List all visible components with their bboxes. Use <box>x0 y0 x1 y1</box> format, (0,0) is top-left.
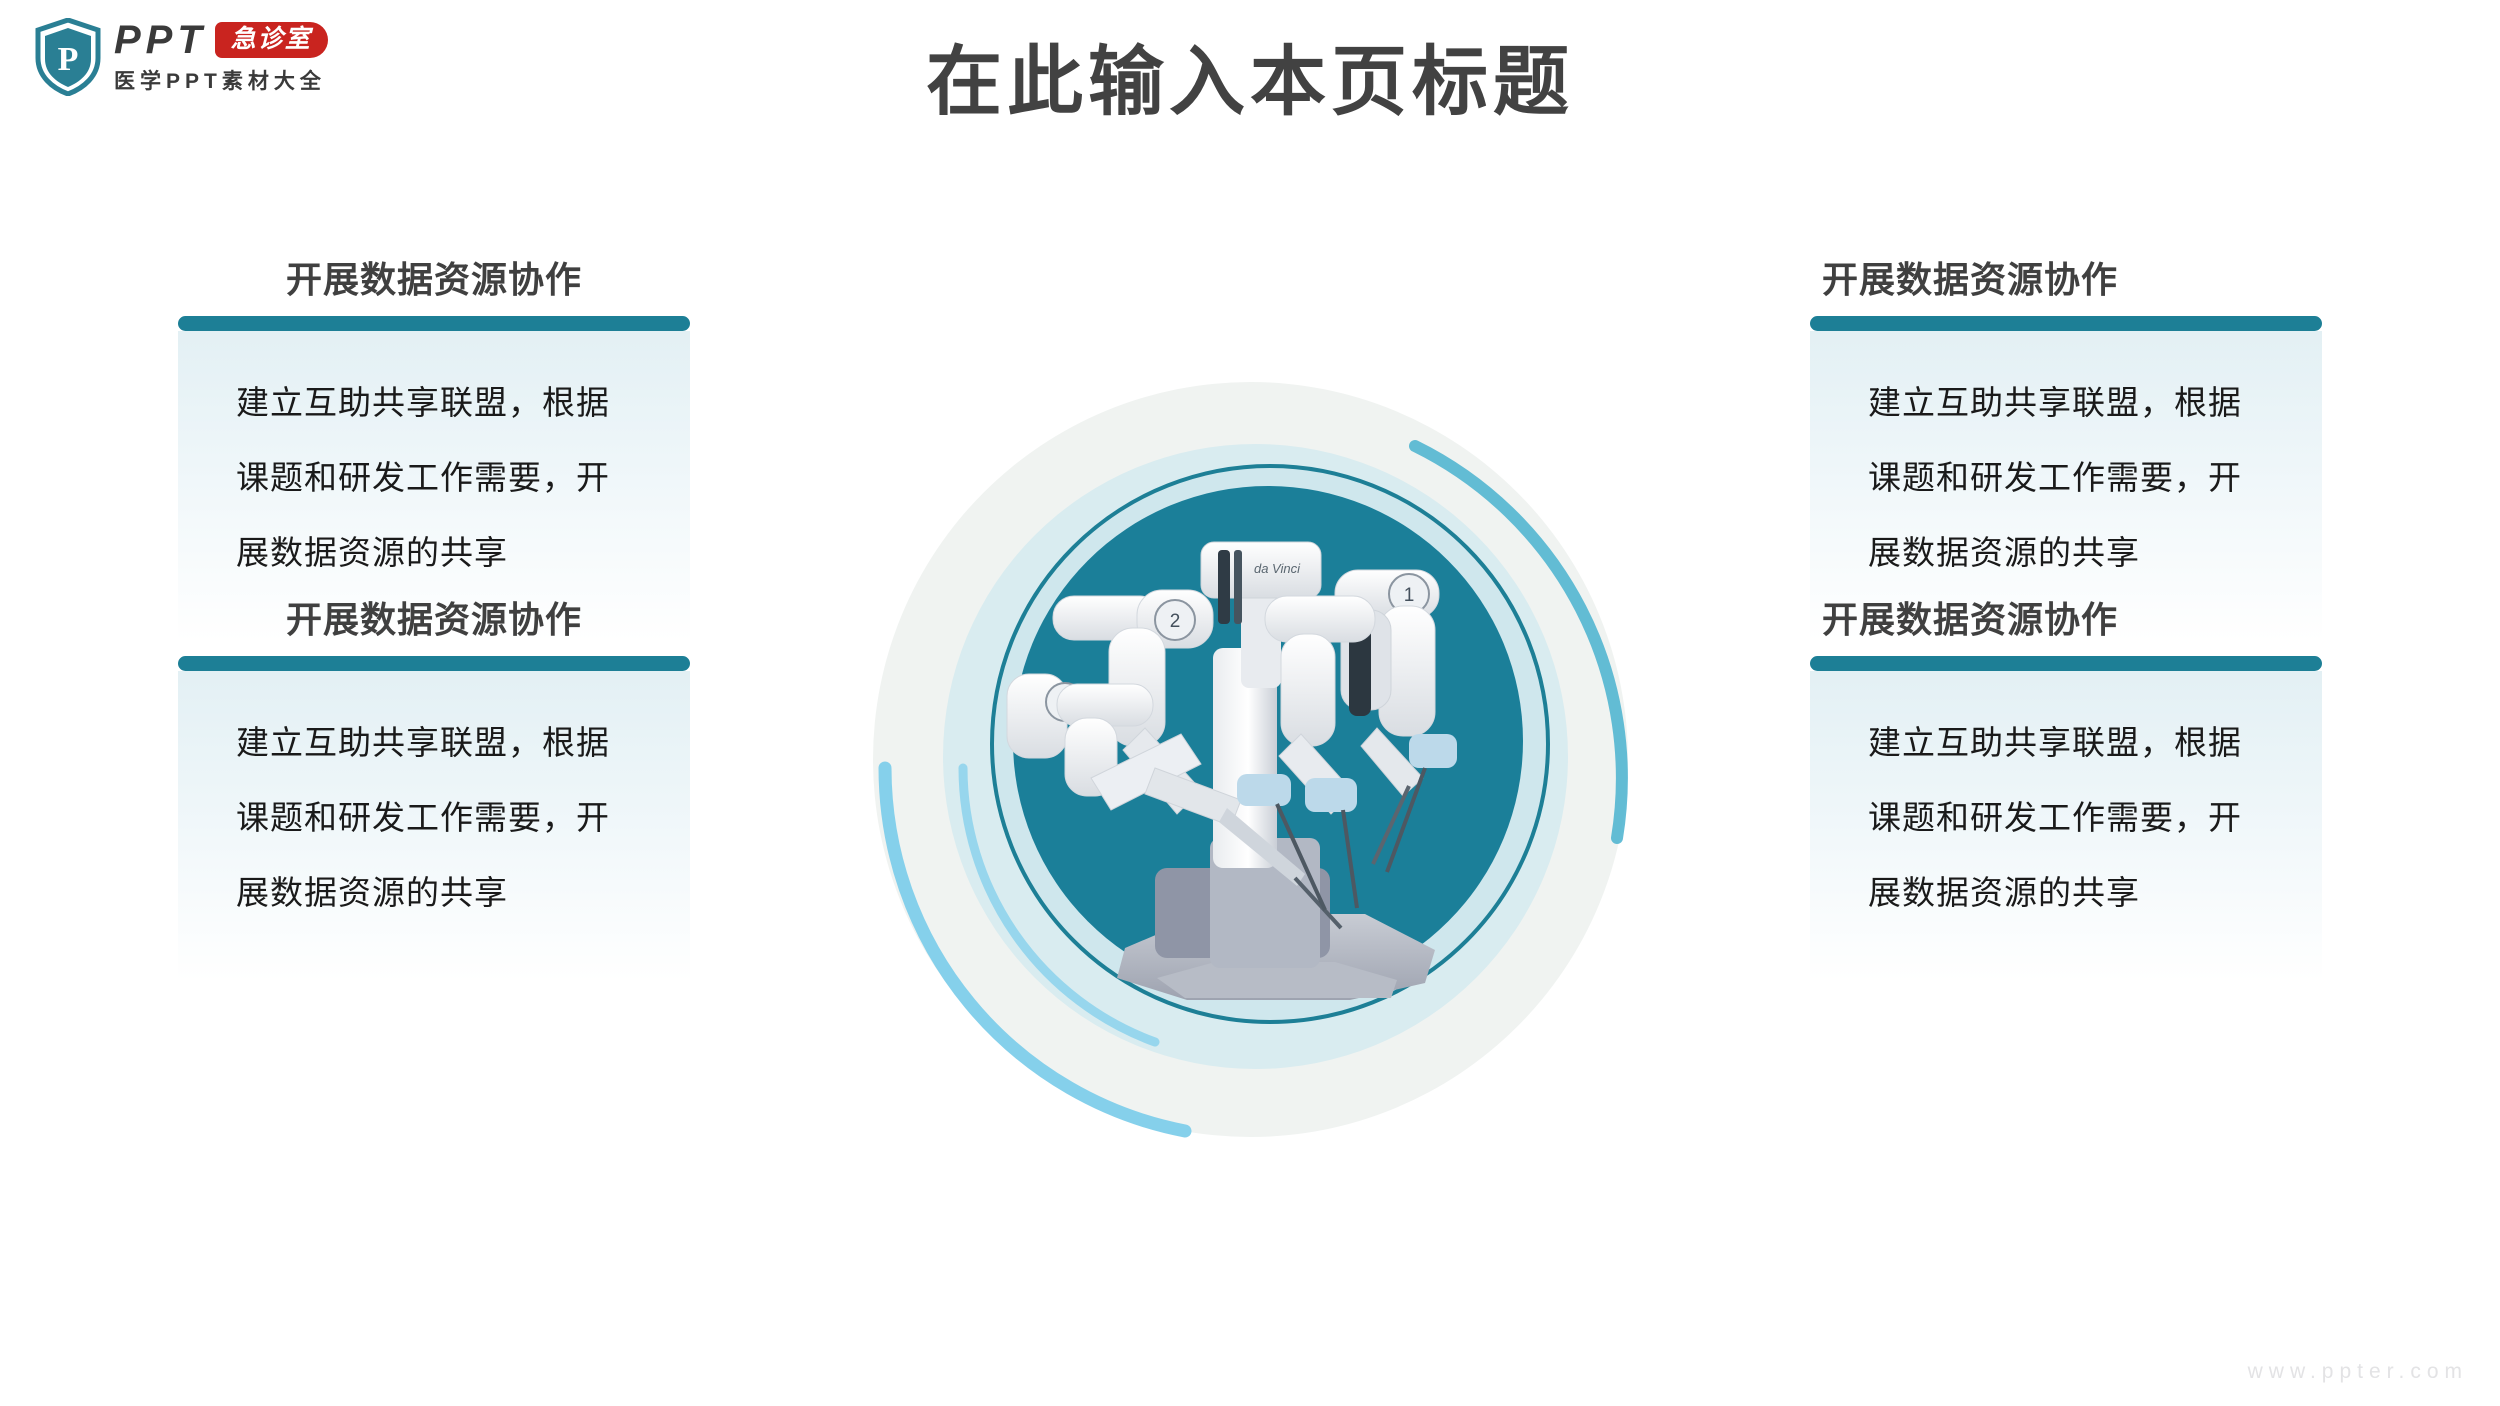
card-accent-bar <box>178 656 690 671</box>
card-heading: 开展数据资源协作 <box>178 597 690 643</box>
card-body: 建立互助共享联盟，根据课题和研发工作需要，开展数据资源的共享 <box>178 671 690 981</box>
info-card-top-left: 开展数据资源协作 建立互助共享联盟，根据课题和研发工作需要，开展数据资源的共享 <box>178 257 690 641</box>
card-heading: 开展数据资源协作 <box>1810 257 2322 303</box>
card-text: 建立互助共享联盟，根据课题和研发工作需要，开展数据资源的共享 <box>1868 365 2272 590</box>
card-text: 建立互助共享联盟，根据课题和研发工作需要，开展数据资源的共享 <box>236 365 640 590</box>
card-accent-bar <box>178 316 690 331</box>
center-circle-graphic: da Vinci 2 3 1 <box>855 368 1655 1168</box>
arm-label-1: 1 <box>1404 585 1415 606</box>
site-watermark: www.ppter.com <box>2248 1360 2468 1384</box>
card-heading: 开展数据资源协作 <box>178 257 690 303</box>
card-heading: 开展数据资源协作 <box>1810 597 2322 643</box>
card-accent-bar <box>1810 316 2322 331</box>
card-body: 建立互助共享联盟，根据课题和研发工作需要，开展数据资源的共享 <box>1810 671 2322 981</box>
arm-label-2: 2 <box>1170 611 1181 632</box>
card-text: 建立互助共享联盟，根据课题和研发工作需要，开展数据资源的共享 <box>236 705 640 930</box>
robot-brand-text: da Vinci <box>1254 561 1301 576</box>
surgical-robot-illustration: da Vinci 2 3 1 <box>1005 478 1545 1038</box>
card-body: 建立互助共享联盟，根据课题和研发工作需要，开展数据资源的共享 <box>178 331 690 641</box>
card-accent-bar <box>1810 656 2322 671</box>
card-text: 建立互助共享联盟，根据课题和研发工作需要，开展数据资源的共享 <box>1868 705 2272 930</box>
info-card-top-right: 开展数据资源协作 建立互助共享联盟，根据课题和研发工作需要，开展数据资源的共享 <box>1810 257 2322 641</box>
page-title: 在此输入本页标题 <box>0 38 2500 128</box>
info-card-bottom-right: 开展数据资源协作 建立互助共享联盟，根据课题和研发工作需要，开展数据资源的共享 <box>1810 597 2322 981</box>
card-body: 建立互助共享联盟，根据课题和研发工作需要，开展数据资源的共享 <box>1810 331 2322 641</box>
info-card-bottom-left: 开展数据资源协作 建立互助共享联盟，根据课题和研发工作需要，开展数据资源的共享 <box>178 597 690 981</box>
